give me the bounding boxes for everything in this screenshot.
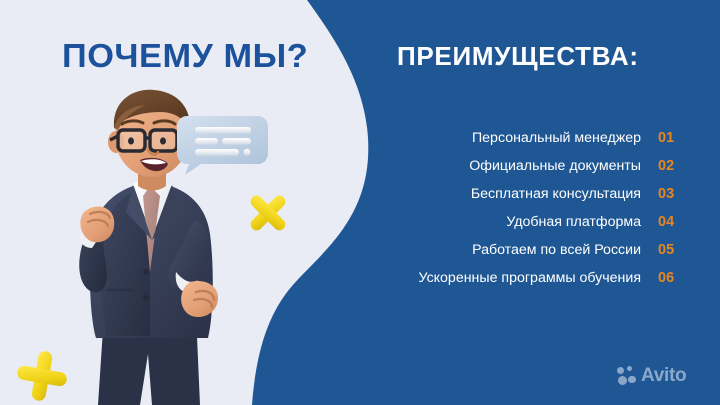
benefits-heading: ПРЕИМУЩЕСТВА: [397,41,639,71]
benefit-label: Ускоренные программы обучения [419,264,641,292]
benefit-label: Работаем по всей России [472,236,641,264]
benefit-number: 03 [658,180,680,208]
benefit-number: 02 [658,152,680,180]
benefit-number: 06 [658,264,680,292]
benefit-label: Персональный менеджер [472,124,641,152]
list-item: Персональный менеджер 01 [340,124,680,152]
avito-wordmark: Avito [641,366,686,385]
yellow-cross-x-decoration [243,188,293,238]
yellow-cross-plus-decoration [14,348,70,404]
list-item: Бесплатная консультация 03 [340,180,680,208]
benefit-number: 04 [658,208,680,236]
benefit-number: 01 [658,124,680,152]
benefit-label: Удобная платформа [506,208,641,236]
avito-dots-icon [617,366,637,385]
list-item: Удобная платформа 04 [340,208,680,236]
list-item: Официальные документы 02 [340,152,680,180]
slide-canvas: ПОЧЕМУ МЫ? [0,0,720,405]
benefit-number: 05 [658,236,680,264]
benefit-label: Официальные документы [469,152,641,180]
benefits-list: Персональный менеджер 01 Официальные док… [340,124,680,292]
list-item: Ускоренные программы обучения 06 [340,264,680,292]
avito-watermark: Avito [617,366,686,385]
page-title: ПОЧЕМУ МЫ? [62,38,343,74]
list-item: Работаем по всей России 05 [340,236,680,264]
benefit-label: Бесплатная консультация [471,180,641,208]
chat-bubble-icon [175,114,270,176]
